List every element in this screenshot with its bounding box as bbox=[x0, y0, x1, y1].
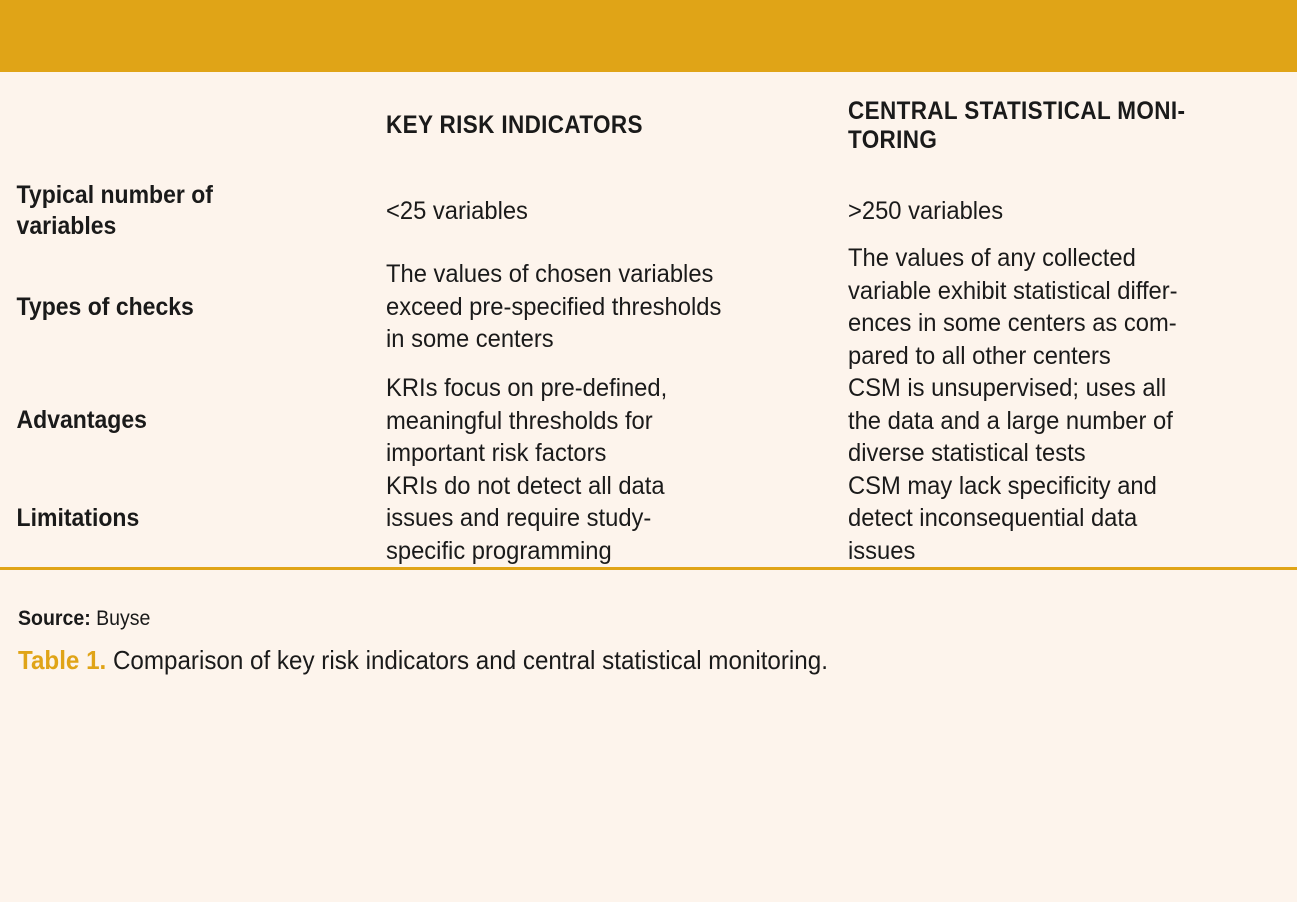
row-label-text: Advantages bbox=[0, 405, 355, 436]
cell-kri: The values of chosen variables exceed pr… bbox=[386, 242, 848, 372]
cell-kri: <25 variables bbox=[386, 180, 848, 242]
cell-kri-text: The values of chosen variables exceed pr… bbox=[386, 258, 825, 356]
top-accent-band bbox=[0, 0, 1297, 72]
cell-csm: CSM may lack specificity and detect inco… bbox=[848, 470, 1297, 569]
row-label-text: Limitations bbox=[0, 503, 355, 534]
cell-csm-text: CSM may lack specificity and detect inco… bbox=[848, 470, 1275, 568]
column-header-kri-label: KEY RISK INDICATORS bbox=[386, 111, 802, 141]
row-label-cell: Typical number of variables bbox=[0, 180, 386, 242]
source-line: Source: Buyse bbox=[18, 606, 1191, 631]
cell-csm: >250 variables bbox=[848, 180, 1297, 242]
row-label-cell: Advantages bbox=[0, 372, 386, 470]
row-label-text: Typical number of variables bbox=[0, 180, 355, 242]
table-header-row: KEY RISK INDICATORS CENTRAL STATISTICAL … bbox=[0, 72, 1297, 180]
table-row: Advantages KRIs focus on pre-defined, me… bbox=[0, 372, 1297, 470]
source-label: Source: bbox=[18, 607, 91, 630]
cell-kri: KRIs focus on pre-defined, meaningful th… bbox=[386, 372, 848, 470]
column-header-csm-label: CENTRAL STATISTICAL MONI- TORING bbox=[848, 97, 1252, 156]
caption-block: Source: Buyse Table 1. Comparison of key… bbox=[0, 570, 1297, 902]
table-caption: Table 1. Comparison of key risk indicato… bbox=[18, 645, 1191, 676]
table-row: Limitations KRIs do not detect all data … bbox=[0, 470, 1297, 569]
cell-kri-text: KRIs do not detect all data issues and r… bbox=[386, 470, 825, 568]
table-caption-text: Comparison of key risk indicators and ce… bbox=[106, 645, 828, 675]
comparison-table: KEY RISK INDICATORS CENTRAL STATISTICAL … bbox=[0, 72, 1297, 570]
table-row: Typical number of variables <25 variable… bbox=[0, 180, 1297, 242]
column-header-csm: CENTRAL STATISTICAL MONI- TORING bbox=[848, 72, 1297, 180]
cell-csm: The values of any collected variable exh… bbox=[848, 242, 1297, 372]
table-figure: KEY RISK INDICATORS CENTRAL STATISTICAL … bbox=[0, 0, 1297, 902]
cell-csm-text: >250 variables bbox=[848, 195, 1275, 228]
source-value: Buyse bbox=[91, 607, 151, 630]
table-body: Typical number of variables <25 variable… bbox=[0, 180, 1297, 569]
cell-kri-text: KRIs focus on pre-defined, meaningful th… bbox=[386, 372, 825, 470]
column-header-rowlabel bbox=[0, 72, 386, 180]
column-header-kri: KEY RISK INDICATORS bbox=[386, 72, 848, 180]
table-number-label: Table 1. bbox=[18, 645, 106, 675]
cell-csm-text: The values of any collected variable exh… bbox=[848, 242, 1275, 372]
row-label-cell: Types of checks bbox=[0, 242, 386, 372]
cell-kri: KRIs do not detect all data issues and r… bbox=[386, 470, 848, 569]
row-label-text: Types of checks bbox=[0, 292, 355, 323]
row-label-cell: Limitations bbox=[0, 470, 386, 569]
cell-csm: CSM is unsupervised; uses all the data a… bbox=[848, 372, 1297, 470]
cell-kri-text: <25 variables bbox=[386, 195, 825, 228]
cell-csm-text: CSM is unsupervised; uses all the data a… bbox=[848, 372, 1275, 470]
comparison-table-container: KEY RISK INDICATORS CENTRAL STATISTICAL … bbox=[0, 72, 1297, 570]
table-row: Types of checks The values of chosen var… bbox=[0, 242, 1297, 372]
